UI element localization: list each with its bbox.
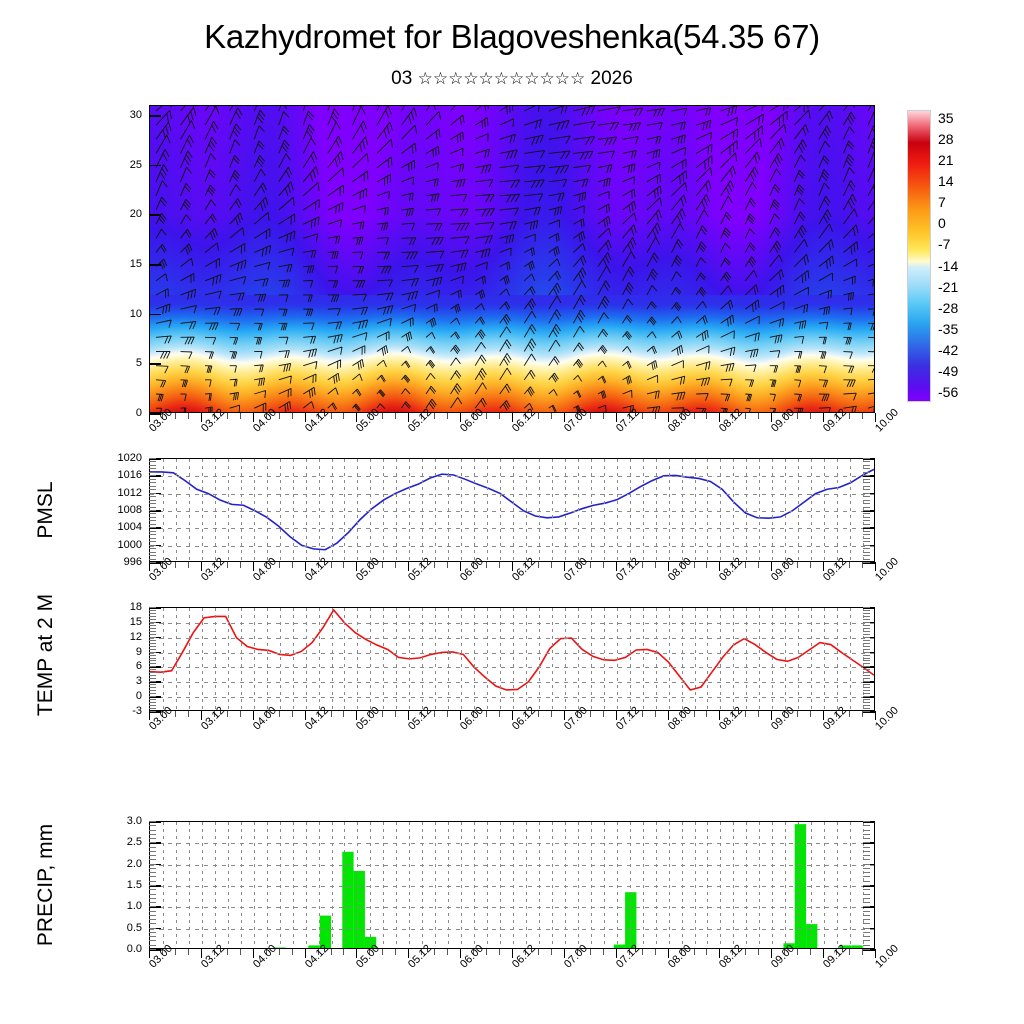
colorbar-tick-label: 28 — [938, 131, 954, 147]
subtitle-year: 2026 — [591, 68, 633, 89]
y-tick-label: 9 — [136, 646, 142, 658]
precip-axis-title: PRECIP, mm — [34, 824, 58, 946]
temp-x-axis-labels: 03.0003.1204.0004.1205.0005.1206.0006.12… — [149, 722, 909, 768]
y-tick-label: 1012 — [118, 487, 142, 499]
colorbar-tick-label: 14 — [938, 173, 954, 189]
colorbar-tick-label: -7 — [938, 236, 950, 252]
colorbar-tick-label: -42 — [938, 342, 958, 358]
y-tick-label: 3.0 — [127, 815, 142, 827]
y-tick-label: 0.0 — [127, 943, 142, 955]
y-tick-label: 2.5 — [127, 836, 142, 848]
pmsl-y-axis-labels: 996100010041008101210161020 — [100, 458, 142, 562]
pmsl-y-ticks — [149, 458, 161, 562]
x-tick-label: 10.00 — [873, 556, 901, 584]
temp-2m-plot — [149, 607, 875, 711]
colorbar-tick-label: -56 — [938, 384, 958, 400]
y-tick-label: 30 — [130, 109, 142, 121]
colorbar-tick-label: 7 — [938, 194, 946, 210]
y-tick-label: 20 — [130, 208, 142, 220]
precip-plot — [149, 821, 875, 949]
precip-y-ticks — [149, 821, 161, 949]
y-tick-label: 10 — [130, 308, 142, 320]
y-tick-label: 12 — [130, 631, 142, 643]
colorbar-tick-label: -14 — [938, 258, 958, 274]
y-tick-label: 996 — [124, 556, 142, 568]
colorbar-tick-label: -28 — [938, 300, 958, 316]
precip-y-ticks-right — [863, 821, 875, 949]
y-tick-label: 1004 — [118, 521, 142, 533]
y-tick-label: 0 — [136, 690, 142, 702]
colorbar-tick-label: 0 — [938, 215, 946, 231]
y-tick-label: 1.5 — [127, 879, 142, 891]
y-tick-label: 1016 — [118, 469, 142, 481]
y-tick-label: 1000 — [118, 539, 142, 551]
x-tick-label: 10.00 — [873, 705, 901, 733]
y-tick-label: 18 — [130, 601, 142, 613]
pmsl-axis-title: PMSL — [34, 481, 58, 538]
temp-y-axis-labels: -30369121518 — [108, 607, 142, 711]
colorbar-tick-label: 35 — [938, 110, 954, 126]
y-tick-label: 15 — [130, 258, 142, 270]
title-text: Kazhydromet for Blagoveshenka(54.35 67) — [204, 18, 820, 55]
y-tick-label: 5 — [136, 357, 142, 369]
precip-y-axis-labels: 0.00.51.01.52.02.53.0 — [104, 821, 142, 949]
subtitle-day: 03 — [391, 68, 412, 89]
y-tick-label: -3 — [132, 705, 142, 717]
pmsl-plot — [149, 458, 875, 562]
y-tick-label: 15 — [130, 616, 142, 628]
y-tick-label: 2.0 — [127, 858, 142, 870]
y-tick-label: 6 — [136, 660, 142, 672]
cross-section-y-ticks — [149, 105, 161, 413]
colorbar-tick-label: -21 — [938, 279, 958, 295]
wind-barbs-overlay — [150, 106, 874, 413]
cross-section-plot — [149, 105, 875, 413]
subtitle-date: 03 ☆☆☆☆☆☆☆☆☆☆☆ 2026 — [0, 68, 1024, 90]
y-tick-label: 3 — [136, 675, 142, 687]
precip-x-axis-labels: 03.0003.1204.0004.1205.0005.1206.0006.12… — [149, 960, 909, 1006]
pmsl-y-ticks-right — [863, 458, 875, 562]
subtitle-month-glyphs: ☆☆☆☆☆☆☆☆☆☆☆ — [418, 69, 586, 88]
colorbar-tick-label: -49 — [938, 363, 958, 379]
temp-y-ticks-right — [863, 607, 875, 711]
y-tick-label: 25 — [130, 159, 142, 171]
temp-axis-title: TEMP at 2 M — [34, 594, 58, 716]
x-tick-label: 10.00 — [873, 943, 901, 971]
page-title: Kazhydromet for Blagoveshenka(54.35 67) — [0, 18, 1024, 56]
temp-y-ticks — [149, 607, 161, 711]
y-tick-label: 1008 — [118, 504, 142, 516]
colorbar-tick-label: -35 — [938, 321, 958, 337]
colorbar-tick-labels: 3528211470-7-14-21-28-35-42-49-56 — [938, 110, 998, 400]
y-tick-label: 1020 — [118, 452, 142, 464]
y-tick-label: 1.0 — [127, 900, 142, 912]
temperature-colorbar — [907, 110, 931, 402]
y-tick-label: 0 — [136, 407, 142, 419]
colorbar-tick-label: 21 — [938, 152, 954, 168]
cross-section-y-axis-labels: 051015202530 — [112, 105, 142, 413]
x-tick-label: 10.00 — [873, 407, 901, 435]
y-tick-label: 0.5 — [127, 922, 142, 934]
